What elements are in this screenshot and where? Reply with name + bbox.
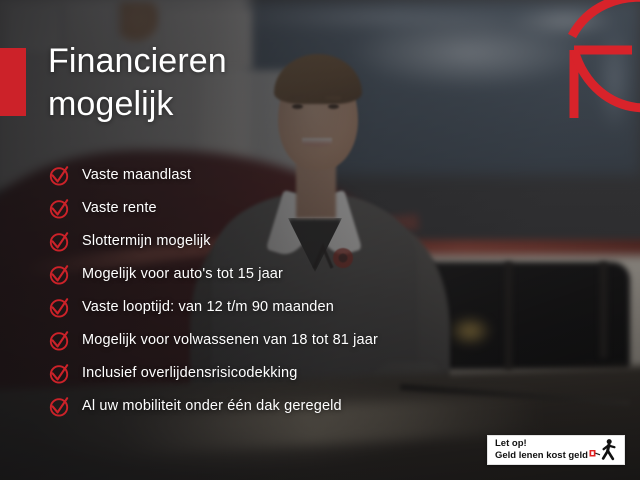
list-item-label: Al uw mobiliteit onder één dak geregeld (82, 399, 342, 414)
warning-line-1: Let op! (495, 438, 589, 450)
headline-line-1: Financieren (48, 42, 227, 80)
feature-item-6: Mogelijk voor volwassenen van 18 tot 81 … (48, 324, 518, 357)
feature-item-8: Al uw mobiliteit onder één dak geregeld (48, 390, 518, 423)
list-item-label: Vaste looptijd: van 12 t/m 90 maanden (82, 300, 334, 315)
feature-item-5: Vaste looptijd: van 12 t/m 90 maanden (48, 291, 518, 324)
red-arc-logo (554, 0, 640, 118)
list-item-label: Vaste rente (82, 201, 157, 216)
check-circle-icon (48, 330, 70, 352)
feature-item-7: Inclusief overlijdensrisicodekking (48, 357, 518, 390)
warning-badge-text: Let op! Geld lenen kost geld (495, 438, 589, 462)
warning-line-2: Geld lenen kost geld (495, 450, 589, 462)
walking-person-with-weight-icon (589, 438, 619, 462)
red-rectangle-shape (0, 48, 26, 116)
check-circle-icon (48, 231, 70, 253)
feature-item-3: Slottermijn mogelijk (48, 225, 518, 258)
feature-item-1: Vaste maandlast (48, 159, 518, 192)
feature-list: Vaste maandlast Vaste rente Slottermijn … (48, 159, 518, 423)
check-circle-icon (48, 396, 70, 418)
list-item-label: Mogelijk voor volwassenen van 18 tot 81 … (82, 333, 378, 348)
list-item-label: Mogelijk voor auto's tot 15 jaar (82, 267, 283, 282)
financing-promo-banner: Financieren mogelijk Vaste maandlast Vas… (0, 0, 640, 480)
list-item-label: Inclusief overlijdensrisicodekking (82, 366, 297, 381)
check-circle-icon (48, 165, 70, 187)
check-circle-icon (48, 264, 70, 286)
check-circle-icon (48, 297, 70, 319)
headline-line-2: mogelijk (48, 83, 368, 126)
check-circle-icon (48, 198, 70, 220)
red-accent-block (0, 48, 26, 116)
feature-item-4: Mogelijk voor auto's tot 15 jaar (48, 258, 518, 291)
list-item-label: Slottermijn mogelijk (82, 234, 211, 249)
check-circle-icon (48, 363, 70, 385)
page-title: Financieren mogelijk (48, 40, 368, 126)
list-item-label: Vaste maandlast (82, 168, 191, 183)
warning-badge: Let op! Geld lenen kost geld (487, 435, 625, 465)
feature-item-2: Vaste rente (48, 192, 518, 225)
